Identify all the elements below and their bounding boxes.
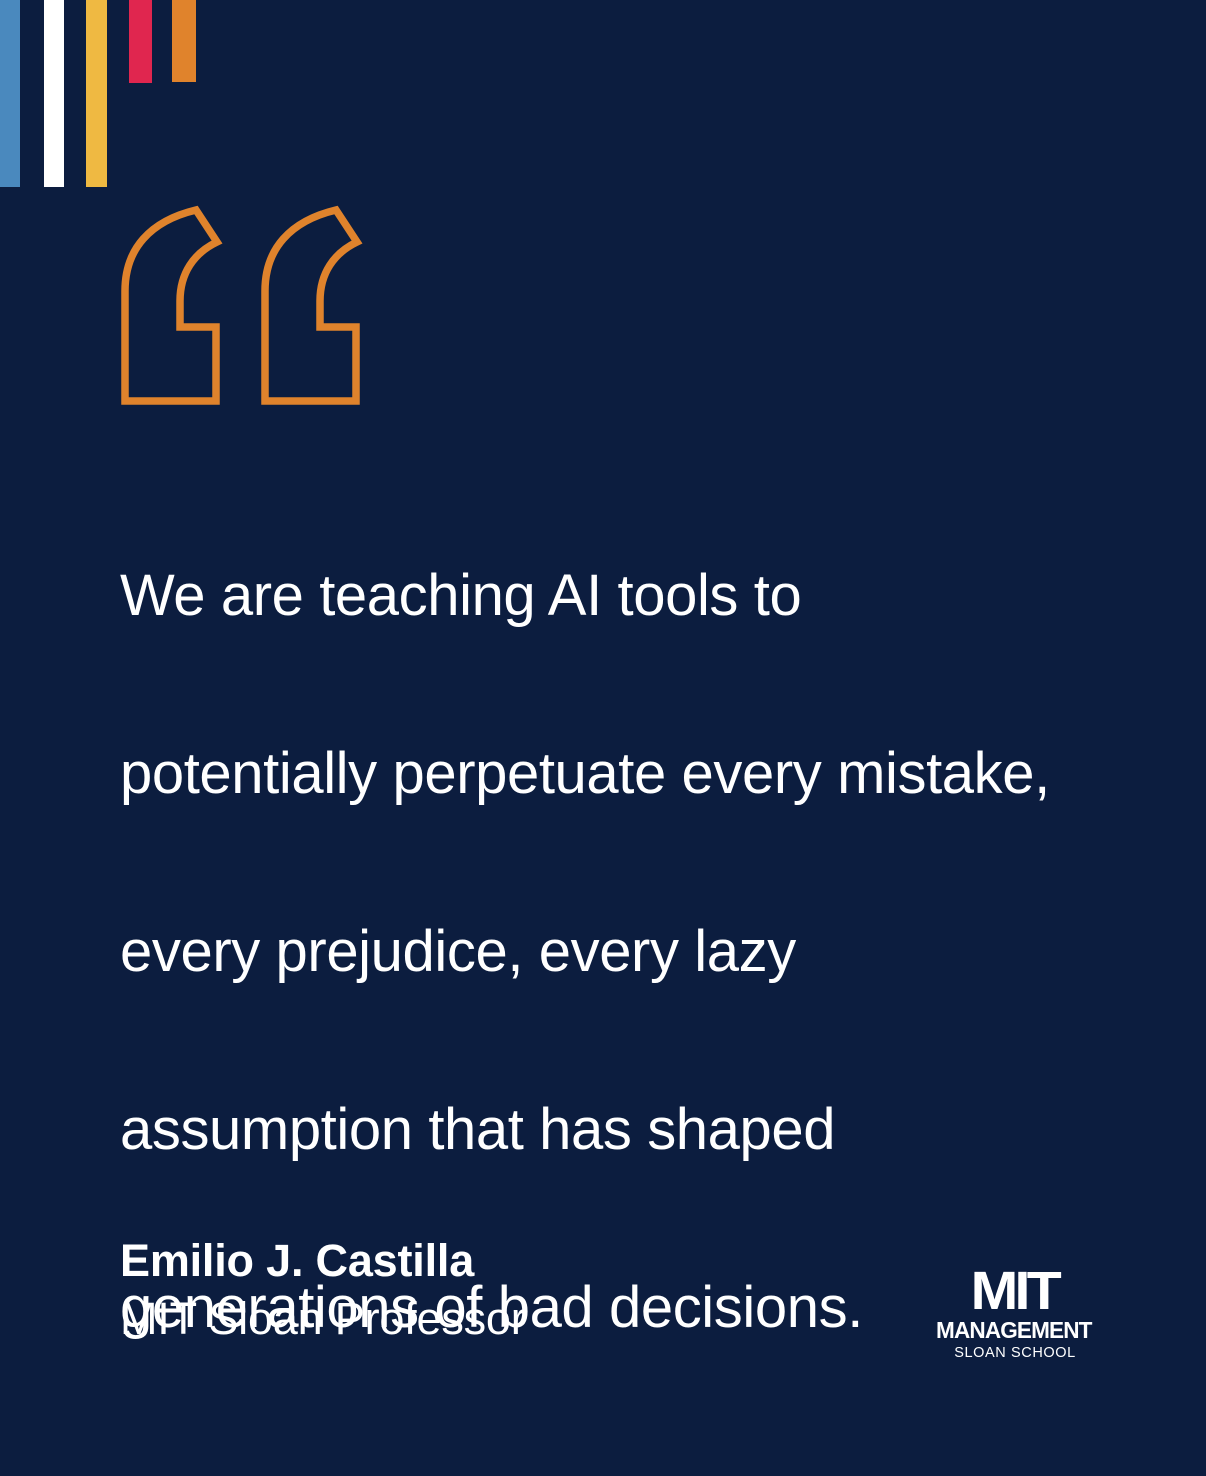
quote-card: We are teaching AI tools to potentially … — [0, 0, 1206, 1476]
logo-management-wordmark: MANAGEMENT — [936, 1318, 1082, 1342]
attribution-name: Emilio J. Castilla — [120, 1234, 820, 1288]
quote-line-2: potentially perpetuate every mistake, — [120, 729, 1130, 818]
white-bar — [44, 0, 64, 187]
mit-sloan-management-logo: MIT MANAGEMENT SLOAN SCHOOL — [933, 1268, 1085, 1364]
blue-bar — [0, 0, 20, 187]
double-open-quote-icon — [118, 205, 363, 405]
quote-line-4: assumption that has shaped — [120, 1085, 1130, 1174]
attribution: Emilio J. Castilla MIT Sloan Professor — [120, 1234, 820, 1350]
attribution-role: MIT Sloan Professor — [120, 1288, 820, 1350]
crimson-bar — [129, 0, 152, 83]
logo-sloan-school-wordmark: SLOAN SCHOOL — [933, 1345, 1085, 1361]
yellow-bar — [86, 0, 107, 187]
orange-bar — [172, 0, 196, 82]
logo-mit-wordmark: MIT — [928, 1268, 1089, 1314]
quote-line-1: We are teaching AI tools to — [120, 551, 1130, 640]
quote-line-3: every prejudice, every lazy — [120, 907, 1130, 996]
